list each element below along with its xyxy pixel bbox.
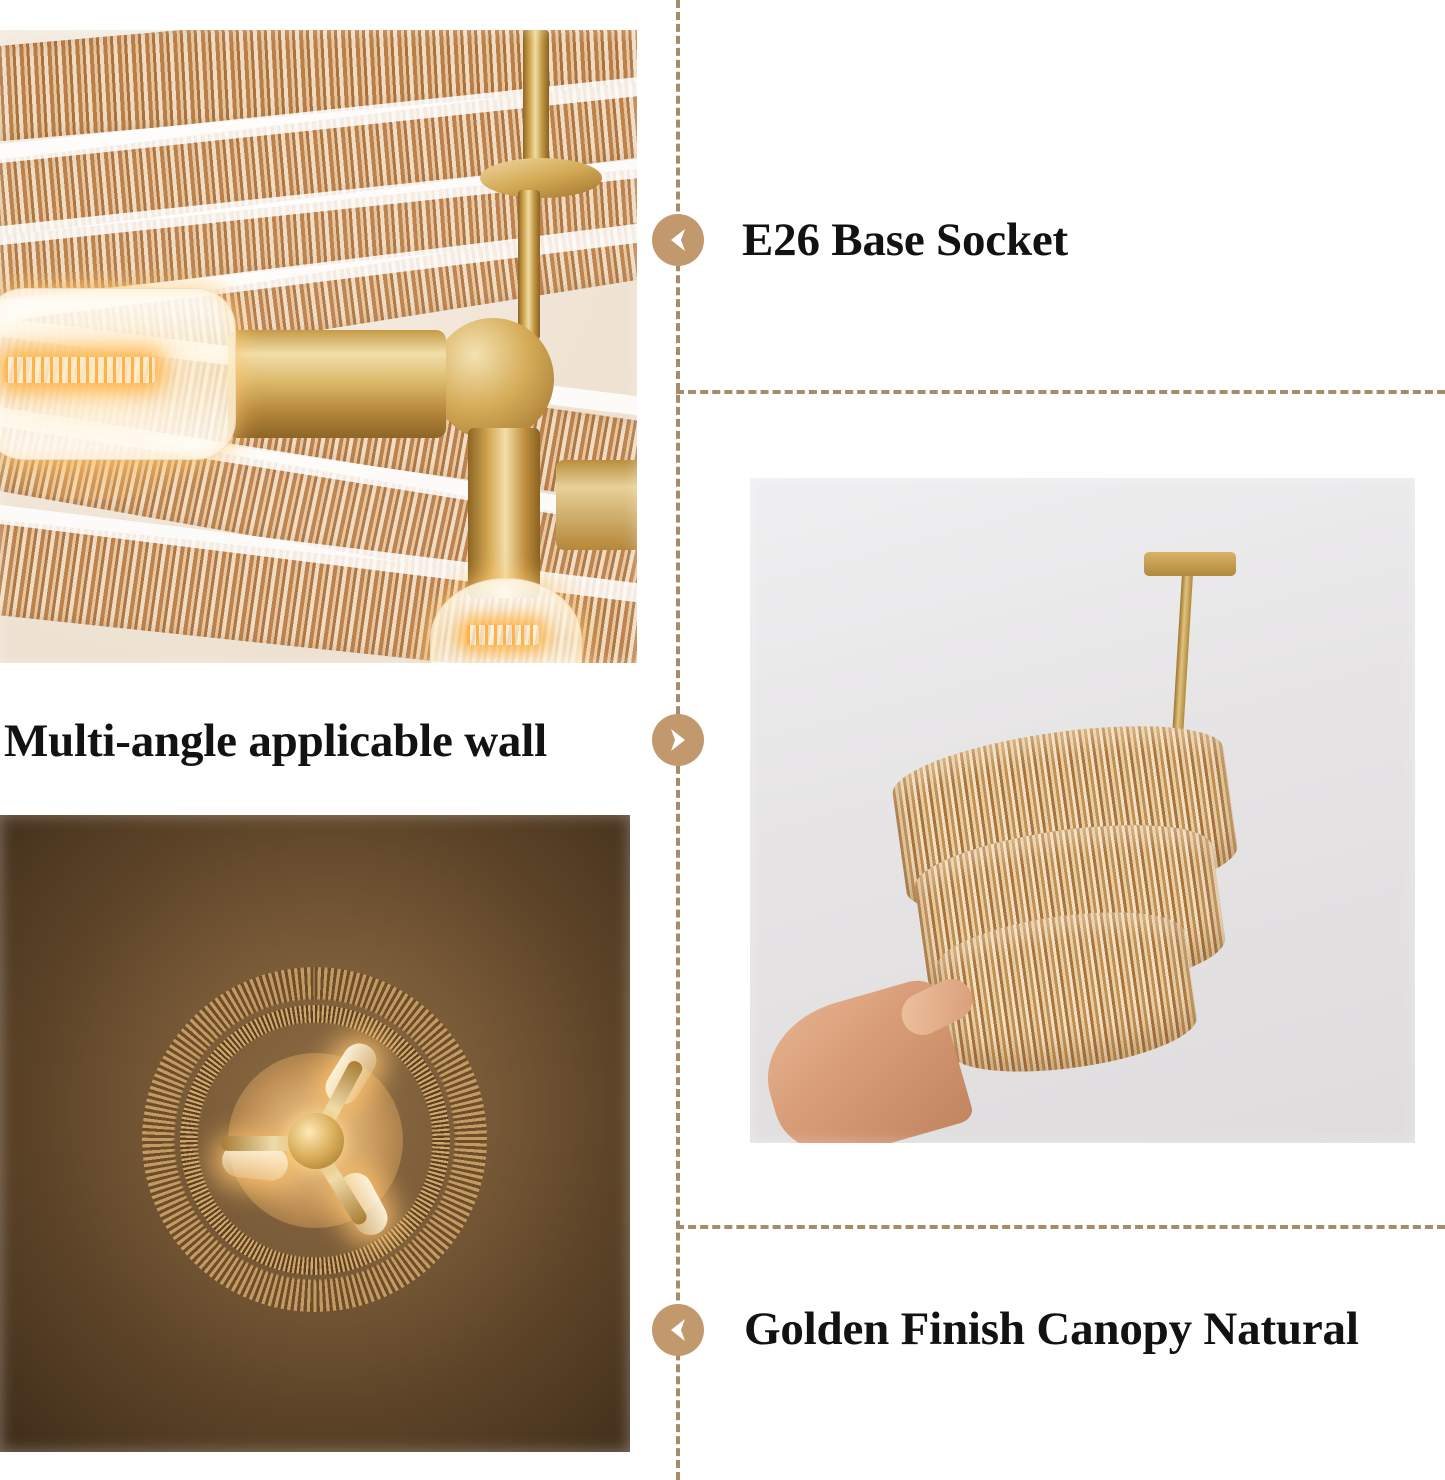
brass-rod-lower: [518, 190, 540, 340]
brass-arm-primary: [540, 380, 637, 466]
edison-bulb-left: [0, 288, 236, 460]
brass-hub: [432, 318, 554, 440]
brass-rod-upper: [523, 30, 549, 170]
brass-arm-secondary: [556, 460, 637, 550]
arrow-right-icon: [652, 714, 704, 766]
photo-canopy-hand-held: [750, 478, 1415, 1143]
photo-socket-closeup: [0, 30, 637, 663]
callout-label-golden-finish-canopy-natural: Golden Finish Canopy Natural: [744, 1300, 1359, 1358]
callout-label-e26-base-socket: E26 Base Socket: [742, 211, 1068, 269]
filament: [467, 625, 539, 645]
brass-center-plate: [288, 1113, 344, 1169]
canopy-mounting-plate: [1144, 552, 1236, 576]
infographic-canvas: E26 Base Socket Multi-angle applicable w…: [0, 0, 1445, 1480]
arrow-left-icon: [652, 214, 704, 266]
filament: [5, 357, 155, 383]
brass-stem: [468, 428, 540, 598]
e26-socket-body: [228, 330, 446, 438]
arrow-left-icon: [652, 1304, 704, 1356]
brass-disc: [480, 158, 602, 198]
horizontal-divider-line-bottom: [676, 1225, 1445, 1229]
photo-wall-mounted-lit: [0, 815, 630, 1452]
callout-label-multi-angle-applicable-wall: Multi-angle applicable wall: [4, 712, 547, 770]
horizontal-divider-line-top: [676, 390, 1445, 394]
